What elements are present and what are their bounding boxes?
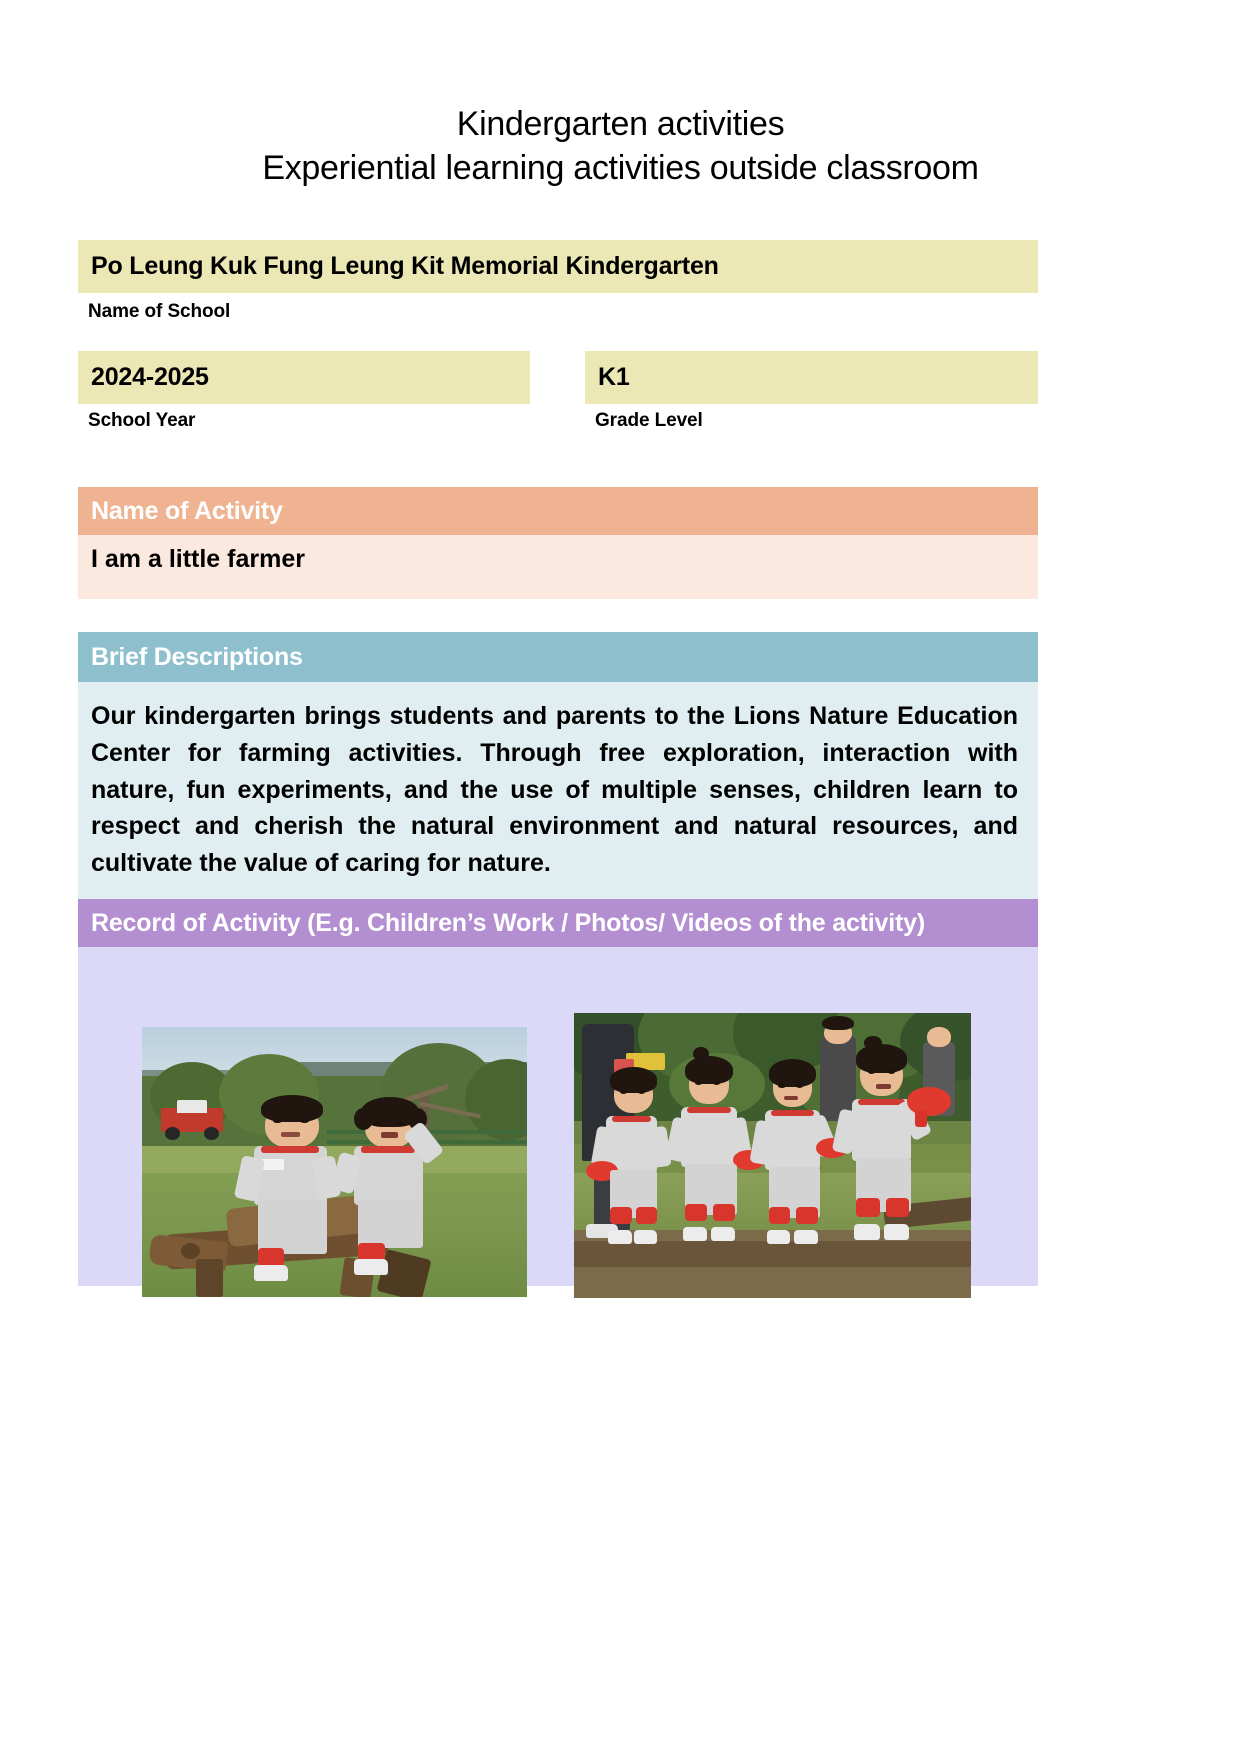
page-title-line-1: Kindergarten activities [0,103,1241,147]
school-year-field: 2024-2025 [78,351,530,404]
section-record-of-activity: Record of Activity (E.g. Children’s Work… [78,899,1038,1286]
section-record-body [78,947,1038,1286]
photo-row [78,947,1038,1286]
photo-group-crabs [574,1013,971,1298]
section-brief-descriptions: Brief Descriptions Our kindergarten brin… [78,632,1038,900]
school-name-label: Name of School [88,301,230,323]
section-brief-header: Brief Descriptions [78,632,1038,682]
section-brief-value: Our kindergarten brings students and par… [78,682,1038,900]
page-title: Kindergarten activities Experiential lea… [0,103,1241,190]
grade-level-label: Grade Level [595,410,703,432]
section-activity-value: I am a little farmer [78,535,1038,599]
section-record-header: Record of Activity (E.g. Children’s Work… [78,899,1038,947]
grade-level-value: K1 [598,363,630,392]
school-year-label: School Year [88,410,195,432]
grade-level-field: K1 [585,351,1038,404]
school-name-field: Po Leung Kuk Fung Leung Kit Memorial Kin… [78,240,1038,293]
page-title-line-2: Experiential learning activities outside… [0,147,1241,191]
section-name-of-activity: Name of Activity I am a little farmer [78,487,1038,599]
photo-farm-ride [142,1027,527,1297]
section-activity-header: Name of Activity [78,487,1038,535]
school-name-value: Po Leung Kuk Fung Leung Kit Memorial Kin… [91,252,719,281]
school-year-value: 2024-2025 [91,363,209,392]
document-page: Kindergarten activities Experiential lea… [0,0,1241,1755]
